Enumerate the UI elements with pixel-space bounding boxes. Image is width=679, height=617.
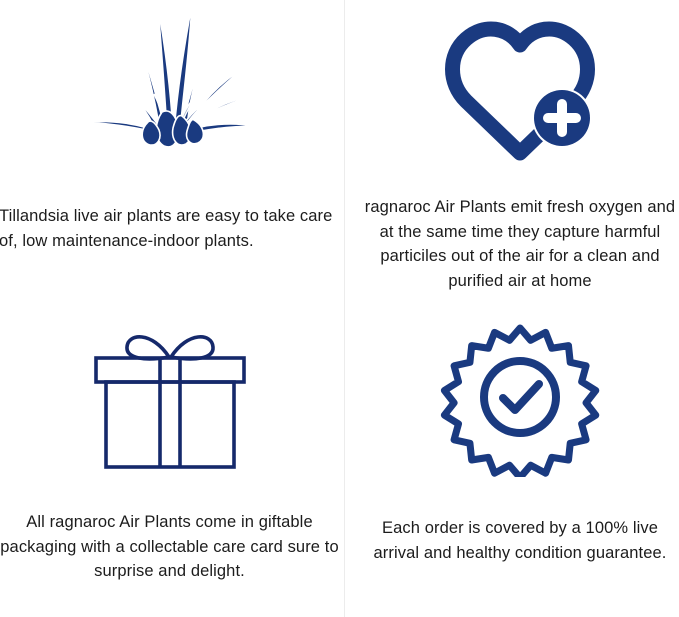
guarantee-badge-icon — [363, 309, 677, 484]
feature-panel-air-plant: Tillandsia live air plants are easy to t… — [0, 0, 345, 309]
feature-caption: All ragnaroc Air Plants come in giftable… — [0, 510, 343, 584]
feature-panel-guarantee: Each order is covered by a 100% live arr… — [345, 309, 679, 617]
feature-caption: Tillandsia live air plants are easy to t… — [0, 204, 344, 253]
feature-caption: ragnaroc Air Plants emit fresh oxygen an… — [359, 195, 679, 293]
heart-plus-icon — [363, 0, 677, 180]
feature-grid: Tillandsia live air plants are easy to t… — [0, 0, 679, 617]
feature-panel-gift: All ragnaroc Air Plants come in giftable… — [0, 309, 345, 617]
gift-box-icon — [0, 309, 339, 484]
feature-panel-oxygen: ragnaroc Air Plants emit fresh oxygen an… — [345, 0, 679, 309]
air-plant-icon — [0, 0, 339, 180]
feature-caption: Each order is covered by a 100% live arr… — [359, 516, 679, 565]
